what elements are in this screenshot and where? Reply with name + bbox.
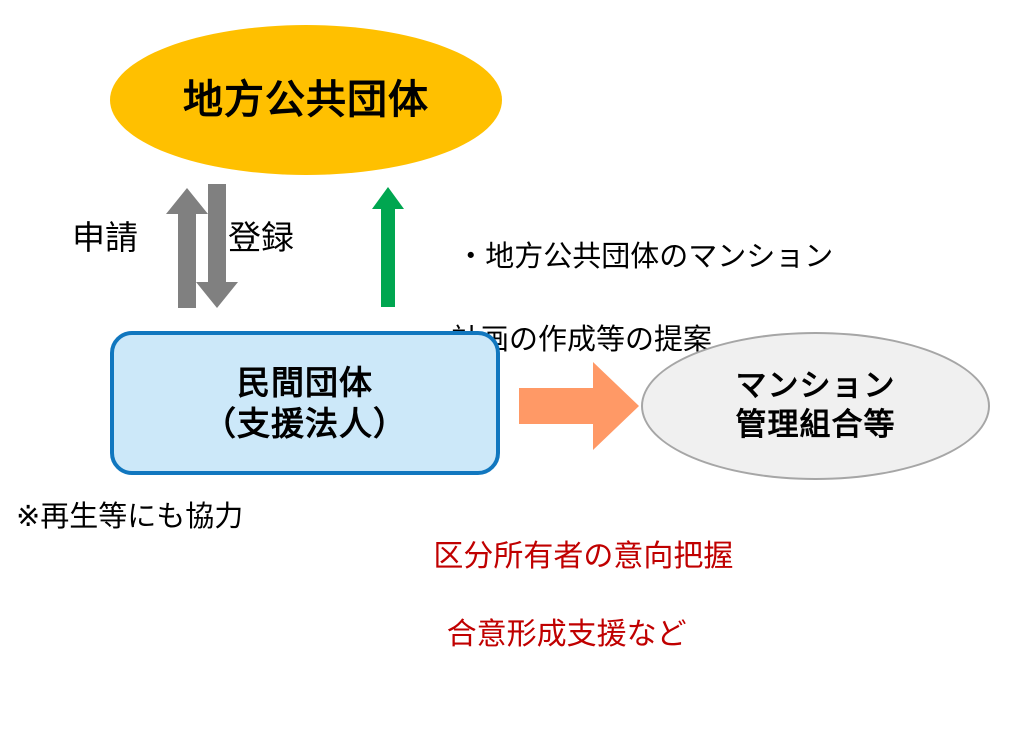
node-management-association-label: マンション 管理組合等: [736, 367, 896, 445]
diagram-canvas: 地方公共団体 申請 登録 ・地方公共団体のマンション 計画の作成等の提案 民間団…: [0, 0, 1011, 603]
arrow-label-register: 登録: [228, 218, 294, 258]
node-private-body-label-line2: （支援法人）: [203, 405, 407, 442]
node-private-body-label-line1: 民間団体: [237, 364, 373, 401]
node-local-government[interactable]: 地方公共団体: [110, 25, 502, 175]
node-local-government-label: 地方公共団体: [183, 77, 429, 123]
node-management-association-label-line2: 管理組合等: [736, 407, 896, 442]
node-private-body[interactable]: 民間団体 （支援法人）: [110, 331, 500, 475]
support-detail-note: 区分所有者の意向把握 合意形成支援など: [400, 498, 733, 732]
proposal-note-line1: ・地方公共団体のマンション: [456, 241, 833, 273]
node-management-association[interactable]: マンション 管理組合等: [641, 332, 990, 480]
arrow-up-icon-proposal: [372, 187, 404, 307]
cooperation-note: ※再生等にも協力: [16, 500, 243, 535]
node-private-body-label: 民間団体 （支援法人）: [203, 362, 407, 445]
node-management-association-label-line1: マンション: [736, 368, 896, 403]
arrow-label-apply: 申請: [72, 218, 138, 258]
support-detail-note-line1: 区分所有者の意向把握: [433, 540, 733, 573]
support-detail-note-line2: 合意形成支援など: [400, 615, 733, 654]
